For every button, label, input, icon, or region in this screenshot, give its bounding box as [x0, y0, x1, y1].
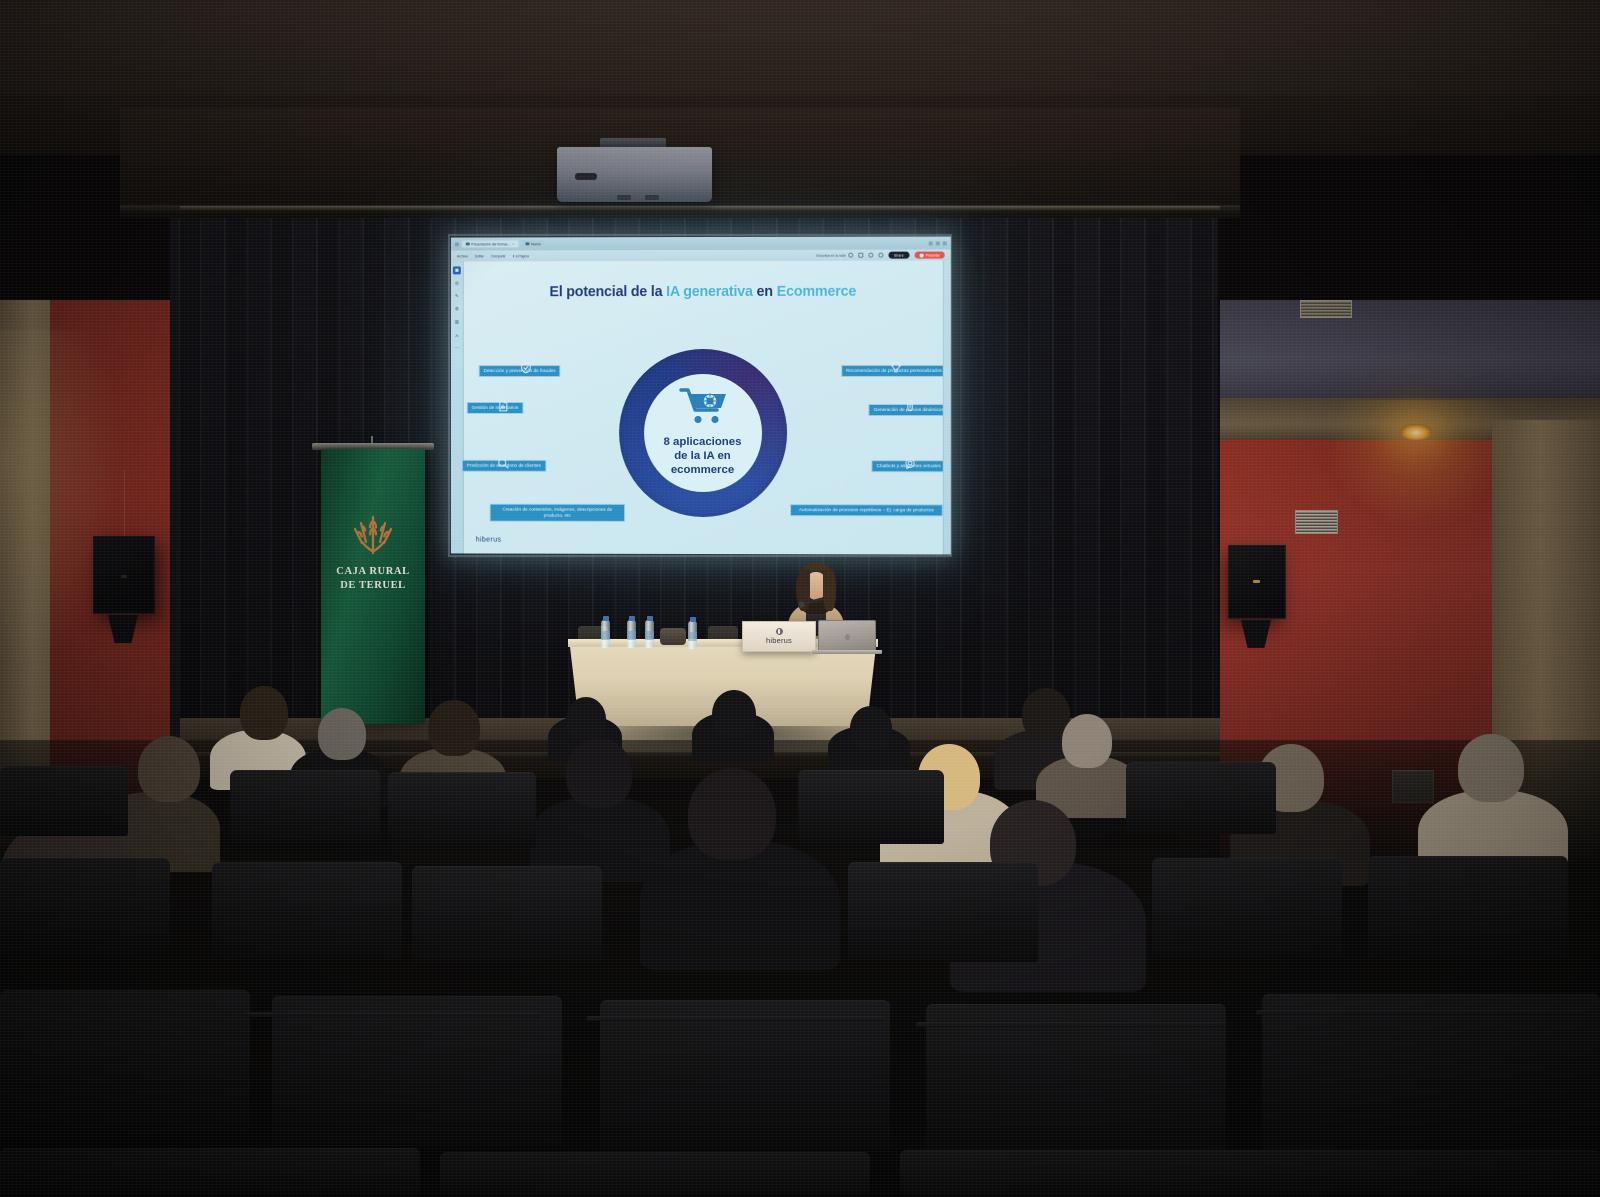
slide-title: El potencial de la IA generativa en Ecom…: [464, 284, 943, 301]
document-chart-icon: [497, 399, 510, 412]
search-placeholder: Encontrar en la nube: [816, 253, 846, 257]
theater-seat[interactable]: [900, 1150, 1600, 1197]
chart-tool-icon[interactable]: ▥: [453, 318, 461, 326]
seat-armrest: [1256, 1010, 1586, 1015]
water-bottle: [645, 620, 654, 648]
theater-seat[interactable]: [926, 1004, 1226, 1160]
seat-armrest: [242, 1012, 542, 1017]
lamp-glow: [1330, 400, 1510, 530]
theater-seat[interactable]: [798, 770, 944, 844]
bottle-cap: [603, 616, 609, 621]
slide-canvas-area: El potencial de la IA generativa en Ecom…: [464, 261, 951, 555]
play-icon: [920, 253, 924, 257]
bottle-label: [627, 631, 636, 640]
audience-head: [138, 736, 200, 802]
donut-center-text: 8 aplicaciones de la IA en ecommerce: [664, 436, 742, 478]
text-tool-icon[interactable]: A: [453, 331, 461, 339]
bottle-label: [688, 632, 697, 641]
audience-head: [1062, 714, 1112, 768]
tab-label: Presentación del formac...: [471, 242, 510, 246]
theater-seat[interactable]: [412, 866, 602, 966]
close-icon[interactable]: ×: [512, 242, 514, 246]
audience-head: [688, 768, 776, 860]
theater-seat[interactable]: [1262, 994, 1600, 1154]
settings-tool-icon[interactable]: ⚙: [453, 305, 461, 313]
gear-icon[interactable]: [878, 253, 883, 258]
favicon-icon: [525, 242, 528, 245]
presenter-hair-right: [823, 569, 836, 611]
theater-seat[interactable]: [230, 770, 380, 846]
theater-seat[interactable]: [0, 1148, 420, 1197]
chat-bubble-icon: [904, 457, 917, 470]
menubar-right-group: Encontrar en la nube Share Presentar: [816, 251, 945, 258]
favicon-icon: [466, 242, 469, 245]
theater-seat[interactable]: [0, 766, 128, 836]
theater-seat[interactable]: [1368, 856, 1568, 960]
browser-tab-active[interactable]: Presentación del formac... ×: [462, 240, 519, 247]
projection-screen: Presentación del formac... × Nueva Archi…: [451, 236, 951, 554]
zoom-tool-icon[interactable]: ◎: [453, 279, 461, 287]
maximize-icon[interactable]: [936, 241, 940, 245]
center-line-1: 8 aplicaciones: [664, 436, 742, 450]
theater-seat[interactable]: [440, 1152, 870, 1197]
ceiling-lamp: [1400, 424, 1432, 440]
banner-name-line-2: DE TERUEL: [321, 579, 425, 593]
present-button[interactable]: Presentar: [915, 251, 945, 258]
curtain-rail: [180, 206, 1220, 210]
close-window-icon[interactable]: [943, 241, 947, 245]
bottle-label: [645, 631, 654, 640]
audience-head: [566, 697, 606, 741]
audience-head: [850, 706, 892, 750]
water-bottle: [601, 620, 610, 648]
presentation-slide: El potencial de la IA generativa en Ecom…: [464, 261, 943, 555]
water-bottle: [688, 621, 697, 649]
right-rail: [943, 261, 951, 555]
bottle-cap: [647, 616, 653, 621]
donut-diagram: 8 aplicaciones de la IA en ecommerce: [619, 349, 787, 517]
banner-organisation-name: CAJA RURAL DE TERUEL: [321, 565, 425, 593]
bottle-cap: [629, 616, 635, 621]
menu-item-ir-a-pagina[interactable]: Ir a Página: [513, 254, 529, 258]
projector-button: [617, 195, 631, 200]
apple-logo-icon: [845, 634, 850, 640]
projector-button: [645, 195, 659, 200]
menu-item-editar[interactable]: Editar: [475, 254, 484, 258]
speaker-led: [1253, 580, 1260, 583]
bottle-label: [601, 631, 610, 640]
seat-armrest: [916, 1022, 1226, 1027]
audience-head: [240, 686, 288, 740]
wheat-sheaf-logo: [344, 513, 402, 559]
lightbulb-idea-icon: [889, 361, 902, 374]
theater-seat[interactable]: [1152, 858, 1342, 958]
browser-tab-new[interactable]: Nueva: [521, 240, 544, 247]
title-part1: El potencial de la: [549, 284, 666, 300]
seat-armrest: [586, 1016, 886, 1021]
more-tool-icon[interactable]: ⋯: [453, 344, 461, 352]
search-icon[interactable]: [848, 253, 853, 258]
water-bottle: [627, 620, 636, 648]
laptop-base: [812, 650, 882, 654]
left-wall-speaker: [93, 536, 155, 614]
laptop-macbook: [818, 620, 876, 652]
minimize-icon[interactable]: [929, 241, 933, 245]
ceiling-vent-grille: [1300, 300, 1352, 318]
shopping-cart-ai-icon: [677, 386, 729, 426]
audience-head: [712, 690, 756, 738]
editor-body: ▣ ◎ ✎ ⚙ ▥ A ⋯ El potencial de la IA gene…: [451, 261, 951, 555]
right-wall-upper-panel: [1180, 300, 1600, 412]
audience-head: [1458, 734, 1524, 802]
audience-head: [428, 700, 480, 756]
theater-seat[interactable]: [272, 996, 562, 1146]
application-label-contenidos: Creación de contenidos, imágenes, descri…: [490, 504, 625, 522]
search-input[interactable]: Encontrar en la nube: [816, 253, 853, 258]
menu-item-compartir[interactable]: Compartir: [491, 254, 506, 258]
share-button[interactable]: Share: [888, 251, 910, 258]
speaker-suspension-wire: [124, 470, 125, 538]
audience-head: [318, 708, 366, 760]
slide-footer-brand: hiberus: [476, 537, 502, 544]
bottle-cap: [690, 617, 696, 622]
banner-name-line-1: CAJA RURAL: [321, 565, 425, 579]
donut-center: 8 aplicaciones de la IA en ecommerce: [644, 374, 762, 492]
title-highlight-1: IA generativa: [666, 284, 753, 300]
theater-seat[interactable]: [600, 1000, 890, 1152]
price-tag-icon: [904, 399, 917, 412]
name-card: hiberus: [742, 621, 816, 652]
present-label: Presentar: [926, 253, 940, 257]
shapes-tool-icon[interactable]: ▣: [453, 266, 461, 274]
theater-seat[interactable]: [388, 772, 536, 848]
application-label-automatizacion: Automatización de procesos repetitivos –…: [790, 504, 943, 517]
cloud-icon[interactable]: [868, 253, 873, 258]
browser-titlebar: Presentación del formac... × Nueva: [451, 236, 951, 250]
shield-check-icon: [519, 361, 532, 374]
browser-menubar: Archivo Editar Compartir Ir a Página Enc…: [451, 249, 951, 261]
theater-seat[interactable]: [212, 862, 402, 962]
pen-tool-icon[interactable]: ✎: [453, 292, 461, 300]
menu-item-archivo[interactable]: Archivo: [457, 254, 468, 258]
ceiling-projector: [557, 147, 712, 202]
name-card-text: hiberus: [766, 636, 792, 645]
window-controls[interactable]: [929, 241, 947, 245]
title-part2: en: [753, 284, 777, 300]
auditorium-photo: Presentación del formac... × Nueva Archi…: [0, 0, 1600, 1197]
hiberus-logo-mark: [776, 628, 783, 635]
laptop-bag: [660, 628, 686, 645]
theater-seat[interactable]: [1126, 762, 1276, 834]
center-line-2: de la IA en: [664, 450, 742, 464]
theater-seat[interactable]: [848, 862, 1038, 962]
magnifier-icon: [497, 457, 510, 470]
right-wall-speaker: [1228, 545, 1286, 619]
caja-rural-banner: CAJA RURAL DE TERUEL: [321, 449, 425, 724]
application-label-inventarios: Gestión de inventarios: [467, 402, 523, 414]
left-tool-rail: ▣ ◎ ✎ ⚙ ▥ A ⋯: [451, 261, 464, 553]
projector-lens: [575, 173, 597, 180]
theater-seat[interactable]: [0, 858, 170, 954]
speaker-led: [121, 575, 127, 578]
panel-icon[interactable]: [858, 253, 863, 258]
app-menu-icon[interactable]: [455, 242, 459, 246]
tab-label: Nueva: [531, 242, 541, 246]
theater-seat[interactable]: [0, 990, 250, 1135]
center-line-3: ecommerce: [664, 464, 742, 478]
audience-head: [566, 738, 632, 808]
title-highlight-2: Ecommerce: [777, 284, 857, 300]
